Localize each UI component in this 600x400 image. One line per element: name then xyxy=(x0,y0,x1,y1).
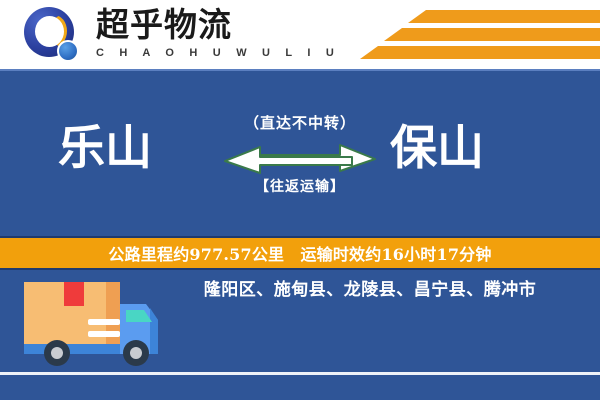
distance-duration-text: 公路里程约977.57公里 运输时效约16小时17分钟 xyxy=(108,241,491,265)
logistics-route-poster: 超乎物流 C H A O H U W U L I U 乐山 （直达不中转） 【往… xyxy=(0,0,600,400)
destination-city-label: 保山 xyxy=(390,121,484,177)
infobar-bottom-divider xyxy=(0,268,600,270)
orange-speed-stripes-icon xyxy=(330,8,600,64)
chaohu-circle-logo-icon xyxy=(22,7,84,65)
brand-name-en: C H A O H U W U L I U xyxy=(96,46,340,61)
coverage-area-block: 隆阳区、施甸县、龙陵县、昌宁县、腾冲市 xyxy=(150,278,590,302)
header-bar: 超乎物流 C H A O H U W U L I U xyxy=(0,0,600,71)
coverage-area-list: 隆阳区、施甸县、龙陵县、昌宁县、腾冲市 xyxy=(150,278,590,302)
direct-route-note: （直达不中转） xyxy=(210,113,390,133)
brand-name-cn: 超乎物流 xyxy=(96,6,340,44)
bottom-divider xyxy=(0,372,600,375)
origin-city-label: 乐山 xyxy=(58,121,152,177)
route-middle-block: （直达不中转） 【往返运输】 xyxy=(210,113,390,197)
stripe-3 xyxy=(360,46,600,59)
route-section: 乐山 （直达不中转） 【往返运输】 保山 xyxy=(0,73,600,236)
round-trip-note: 【往返运输】 xyxy=(210,177,390,197)
distance-duration-bar: 公路里程约977.57公里 运输时效约16小时17分钟 xyxy=(0,238,600,268)
stripe-1 xyxy=(408,10,600,23)
stripe-2 xyxy=(384,28,600,41)
double-headed-arrow-icon xyxy=(220,137,380,175)
brand-block: 超乎物流 C H A O H U W U L I U xyxy=(96,6,340,61)
delivery-truck-icon xyxy=(18,278,168,373)
header-divider xyxy=(0,69,600,71)
logo-small-dot-shape xyxy=(57,40,79,62)
